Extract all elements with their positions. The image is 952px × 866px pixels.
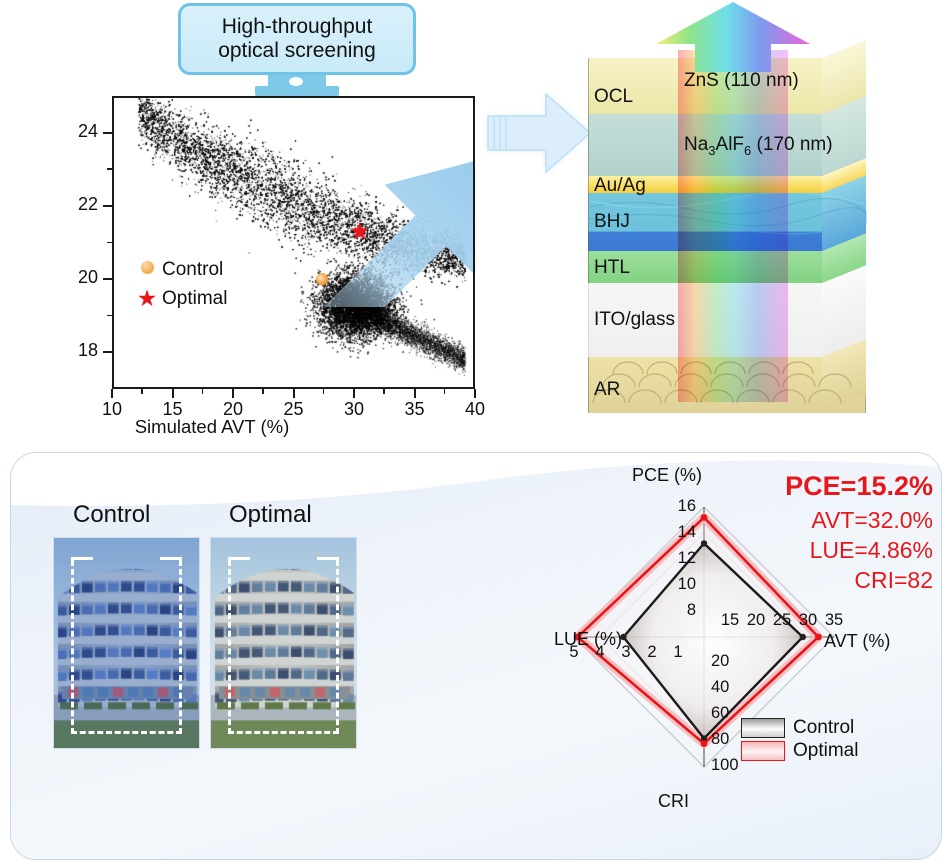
swatch-optimal bbox=[741, 741, 785, 761]
improvement-arrow-icon bbox=[274, 96, 475, 307]
radar-chart: 81012141615202530352040608010012345 PCE … bbox=[556, 459, 941, 859]
x-tick-minor bbox=[444, 389, 446, 394]
x-tick-label: 40 bbox=[465, 399, 485, 420]
x-tick bbox=[293, 389, 295, 398]
radar-data-point bbox=[800, 634, 806, 640]
x-tick bbox=[353, 389, 355, 398]
callout-line-2: optical screening bbox=[218, 39, 376, 62]
callout-base bbox=[255, 86, 339, 96]
x-tick-label: 35 bbox=[404, 399, 424, 420]
radar-legend-item-control: Control bbox=[741, 717, 858, 739]
metric-avt: AVT=32.0% bbox=[785, 505, 933, 535]
y-tick-label: 24 bbox=[78, 121, 98, 142]
radar-axis-avt: AVT (%) bbox=[824, 631, 890, 652]
metric-cri: CRI=82 bbox=[785, 565, 933, 595]
y-tick bbox=[103, 278, 112, 280]
x-tick bbox=[232, 389, 234, 398]
radar-tick-label: 20 bbox=[747, 611, 765, 630]
layer-label-ar: AR bbox=[594, 379, 620, 401]
microlens-array-texture bbox=[589, 357, 867, 413]
legend-item-optimal: ★ Optimal bbox=[132, 284, 227, 313]
x-axis-label: Simulated AVT (%) bbox=[135, 416, 290, 438]
x-axis: 10152025303540 bbox=[112, 389, 475, 417]
legend-label-optimal: Optimal bbox=[162, 288, 227, 310]
metric-summary: PCE=15.2% AVT=32.0% LUE=4.86% CRI=82 bbox=[785, 469, 933, 596]
x-tick-minor bbox=[323, 389, 325, 394]
swatch-control bbox=[741, 718, 785, 738]
y-tick-minor bbox=[107, 242, 112, 244]
x-tick bbox=[474, 389, 476, 398]
layer-inner-zns: ZnS (110 nm) bbox=[684, 70, 799, 92]
optical-screening-panel: High-throughput optical screening 182022… bbox=[0, 0, 520, 450]
metric-lue: LUE=4.86% bbox=[785, 535, 933, 565]
x-tick-minor bbox=[202, 389, 204, 394]
graphical-abstract-figure: High-throughput optical screening 182022… bbox=[0, 0, 952, 866]
radar-tick-label: 35 bbox=[825, 611, 843, 630]
device-stack-panel: OCL ZnS (110 nm) Na3AlF6 (170 nm) Au/Ag bbox=[520, 0, 952, 450]
photo-optimal-highlight bbox=[228, 560, 339, 734]
layer-label-bhj: BHJ bbox=[594, 211, 630, 233]
y-axis: 18202224 bbox=[60, 96, 112, 389]
radar-data-point bbox=[701, 740, 708, 747]
radar-data-point bbox=[701, 514, 708, 521]
photo-title-optimal: Optimal bbox=[229, 501, 312, 529]
y-tick bbox=[103, 132, 112, 134]
legend-item-control: Control bbox=[132, 255, 227, 284]
radar-tick-label: 14 bbox=[678, 523, 696, 542]
radar-tick-label: 8 bbox=[687, 601, 696, 620]
photo-control-highlight bbox=[71, 560, 182, 734]
layer-label-ito-glass: ITO/glass bbox=[594, 309, 675, 331]
radar-tick-label: 60 bbox=[711, 704, 729, 723]
radar-tick-label: 30 bbox=[799, 611, 817, 630]
control-dot-icon bbox=[132, 261, 162, 279]
photo-optimal bbox=[210, 537, 357, 749]
radar-tick-label: 3 bbox=[621, 643, 630, 662]
x-tick-label: 10 bbox=[102, 399, 122, 420]
transfer-arrow-icon bbox=[480, 78, 598, 188]
legend-label-control: Control bbox=[162, 259, 223, 281]
y-tick-minor bbox=[107, 315, 112, 317]
radar-tick-label: 80 bbox=[711, 730, 729, 749]
radar-tick-label: 10 bbox=[678, 575, 696, 594]
radar-tick-label: 12 bbox=[678, 549, 696, 568]
y-tick-label: 18 bbox=[78, 340, 98, 361]
radar-tick-label: 1 bbox=[673, 643, 682, 662]
y-tick-label: 20 bbox=[78, 267, 98, 288]
y-tick bbox=[103, 205, 112, 207]
x-tick-minor bbox=[141, 389, 143, 394]
layer-label-ocl: OCL bbox=[594, 86, 633, 108]
y-tick bbox=[103, 351, 112, 353]
radar-axis-pce: PCE (%) bbox=[632, 465, 702, 486]
scatter-plot-frame bbox=[112, 96, 475, 389]
x-tick-label: 30 bbox=[344, 399, 364, 420]
outgoing-light-arrow-icon bbox=[638, 0, 828, 72]
layer-ar: AR bbox=[588, 357, 908, 413]
x-tick bbox=[172, 389, 174, 398]
layer-label-au-ag: Au/Ag bbox=[594, 175, 646, 197]
y-tick-label: 22 bbox=[78, 194, 98, 215]
radar-legend-item-optimal: Optimal bbox=[741, 740, 858, 762]
radar-legend: Control Optimal bbox=[741, 717, 858, 763]
x-tick bbox=[111, 389, 113, 398]
radar-legend-label-control: Control bbox=[793, 717, 854, 739]
radar-tick-label: 100 bbox=[711, 756, 739, 775]
radar-tick-label: 2 bbox=[647, 643, 656, 662]
callout-line-1: High-throughput bbox=[222, 15, 373, 38]
x-tick-minor bbox=[383, 389, 385, 394]
bhj-texture bbox=[589, 193, 867, 251]
radar-tick-label: 25 bbox=[773, 611, 791, 630]
radar-tick-label: 40 bbox=[711, 678, 729, 697]
radar-data-point bbox=[701, 540, 707, 546]
layer-inner-cryolite: Na3AlF6 (170 nm) bbox=[684, 134, 833, 158]
metric-pce: PCE=15.2% bbox=[785, 469, 933, 505]
x-tick bbox=[414, 389, 416, 398]
radar-tick-label: 16 bbox=[678, 497, 696, 516]
layer-stack: OCL ZnS (110 nm) Na3AlF6 (170 nm) Au/Ag bbox=[588, 58, 908, 413]
radar-axis-lue: LUE (%) bbox=[554, 629, 622, 650]
results-panel: Control Optimal bbox=[10, 452, 942, 860]
radar-axis-cri: CRI bbox=[658, 791, 689, 812]
radar-tick-label: 15 bbox=[721, 611, 739, 630]
radar-data-point bbox=[815, 634, 822, 641]
optimal-star-icon: ★ bbox=[132, 287, 162, 310]
photo-title-control: Control bbox=[73, 501, 150, 529]
layer-label-htl: HTL bbox=[594, 257, 630, 279]
photo-control bbox=[53, 537, 200, 749]
x-tick-minor bbox=[262, 389, 264, 394]
y-tick-minor bbox=[107, 168, 112, 170]
screening-callout-box: High-throughput optical screening bbox=[178, 3, 416, 75]
radar-legend-label-optimal: Optimal bbox=[793, 740, 858, 762]
radar-tick-label: 20 bbox=[711, 652, 729, 671]
scatter-legend: Control ★ Optimal bbox=[132, 255, 227, 313]
